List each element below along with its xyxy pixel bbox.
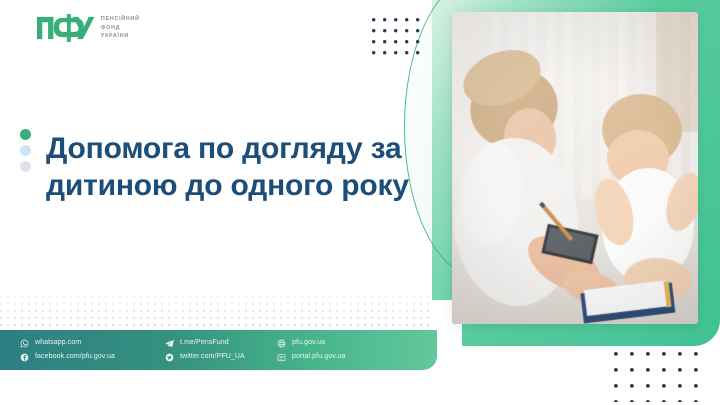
contact-link-portal-label: portal.pfu.gov.ua <box>292 353 345 361</box>
twitter-icon <box>165 353 174 362</box>
bullet-dot-green-icon <box>20 129 31 140</box>
bullet-dot-gray-icon <box>20 161 31 172</box>
pfu-logo-wordmark: ПЕНСІЙНИЙ ФОНД УКРАЇНИ <box>101 13 140 40</box>
halftone-texture <box>0 282 432 330</box>
pfu-logo-icon <box>36 13 94 43</box>
contact-link-twitter[interactable]: twitter.com/PFU_UA <box>165 353 277 362</box>
globe-icon <box>277 339 286 348</box>
contact-link-website[interactable]: pfu.gov.ua <box>277 339 427 348</box>
contact-footer: whatsapp.com facebook.com/pfu.gov.ua t.m… <box>0 330 437 370</box>
telegram-icon <box>165 339 174 348</box>
portal-icon <box>277 353 286 362</box>
dot-grid-top-icon <box>372 18 428 62</box>
logo-word-line-3: УКРАЇНИ <box>101 33 140 40</box>
logo-word-line-2: ФОНД <box>101 25 140 32</box>
page-title-line-2: дитиною до одного року <box>46 167 426 204</box>
logo-word-line-1: ПЕНСІЙНИЙ <box>101 16 140 23</box>
dot-grid-bottom <box>614 352 720 405</box>
hero-photo <box>452 12 698 324</box>
contact-link-whatsapp[interactable]: whatsapp.com <box>20 339 165 348</box>
contact-link-website-label: pfu.gov.ua <box>292 339 325 347</box>
footer-column-messengers: whatsapp.com facebook.com/pfu.gov.ua <box>20 339 165 362</box>
contact-link-twitter-label: twitter.com/PFU_UA <box>180 353 245 361</box>
footer-column-social: t.me/PensFund twitter.com/PFU_UA <box>165 339 277 362</box>
contact-link-facebook[interactable]: facebook.com/pfu.gov.ua <box>20 353 165 362</box>
contact-link-portal[interactable]: portal.pfu.gov.ua <box>277 353 427 362</box>
contact-link-telegram-label: t.me/PensFund <box>180 339 229 347</box>
contact-link-facebook-label: facebook.com/pfu.gov.ua <box>35 353 115 361</box>
contact-link-telegram[interactable]: t.me/PensFund <box>165 339 277 348</box>
contact-link-whatsapp-label: whatsapp.com <box>35 339 81 347</box>
slide-canvas: ПЕНСІЙНИЙ ФОНД УКРАЇНИ Допомога по догля… <box>0 0 720 405</box>
bullet-dot-blue-icon <box>20 145 31 156</box>
page-title: Допомога по догляду за дитиною до одного… <box>46 130 426 204</box>
hero-photo-canvas <box>452 12 698 324</box>
title-bullet-dots <box>20 129 31 172</box>
whatsapp-icon <box>20 339 29 348</box>
page-title-line-1: Допомога по догляду за <box>46 130 426 167</box>
facebook-icon <box>20 353 29 362</box>
pfu-logo[interactable]: ПЕНСІЙНИЙ ФОНД УКРАЇНИ <box>36 13 140 43</box>
footer-column-websites: pfu.gov.ua portal.pfu.gov.ua <box>277 339 427 362</box>
dot-grid-bottom-icon <box>614 352 720 402</box>
dot-grid-top <box>372 18 428 67</box>
